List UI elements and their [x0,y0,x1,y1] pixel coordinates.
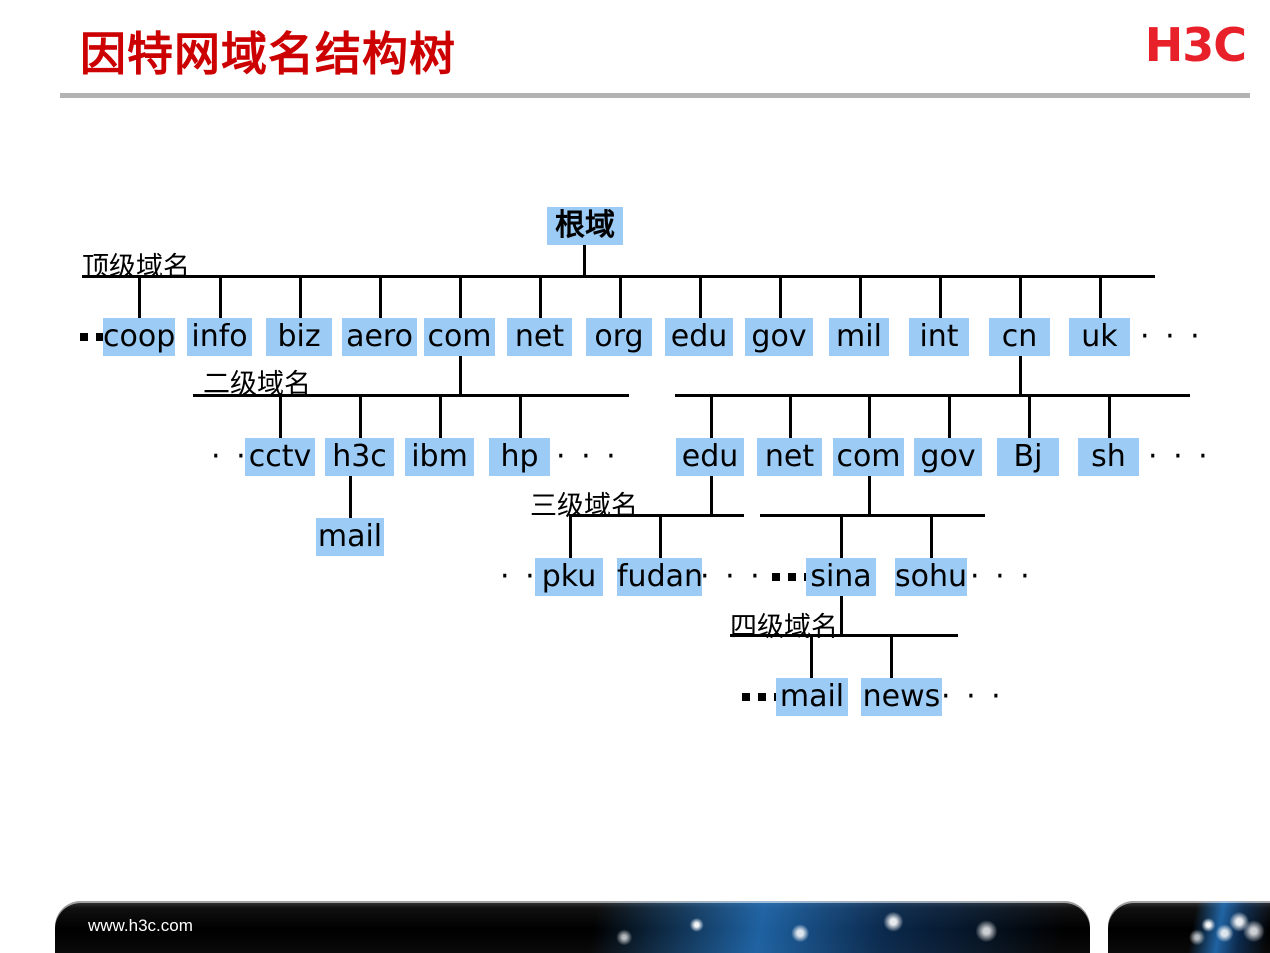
connector-4l-mail [810,634,813,678]
connector-2l-ibm [439,394,442,438]
tier-label-top-level: 顶级域名 [82,245,190,284]
h3c-logo: H3C [1145,18,1246,72]
node-3l-fudan: fudan [617,558,702,596]
ellipsis-2l-right: · · · [1148,438,1211,476]
connector-tld-int [939,275,942,318]
connector-2l-cn-com [868,394,871,438]
node-tld-gov: gov [745,318,813,356]
bus-fourth-level [730,634,958,637]
node-2l-cctv: cctv [245,438,315,476]
connector-tld-coop [138,275,141,318]
node-3l-h3c-mail: mail [316,518,384,556]
node-4l-mail: mail [776,678,848,716]
tier-label-fourth-level: 四级域名 [730,605,838,644]
footer-url: www.h3c.com [88,916,193,936]
node-2l-cn-net: net [757,438,822,476]
ellipsis-tld-right: · · · [1140,318,1203,356]
node-3l-sohu: sohu [895,558,967,596]
connector-cn-com-stem [868,476,871,514]
node-2l-h3c: h3c [325,438,394,476]
footer-bar-side [1108,901,1270,953]
node-root: 根域 [547,207,623,245]
node-tld-net: net [507,318,572,356]
ellipsis-3l-edu-right: · · · [700,558,763,596]
connector-tld-aero [379,275,382,318]
slide-footer: www.h3c.com [0,891,1270,953]
node-3l-pku: pku [535,558,603,596]
connector-4l-news [890,634,893,678]
node-tld-int: int [909,318,969,356]
node-tld-cn: cn [989,318,1050,356]
node-tld-uk: uk [1069,318,1130,356]
connector-root-stem [583,245,586,277]
connector-com-stem [459,356,462,394]
connector-tld-gov [779,275,782,318]
bus-second-level-cn [675,394,1190,397]
tier-label-third-level: 三级域名 [530,484,638,523]
node-tld-org: org [586,318,652,356]
node-2l-cn-bj: Bj [997,438,1059,476]
ellipsis-3l-com-right: · · · [970,558,1033,596]
connector-tld-cn [1019,275,1022,318]
connector-3l-sina [840,514,843,558]
connector-2l-cn-gov [948,394,951,438]
connector-3l-sohu [930,514,933,558]
footer-bar-main [55,901,1090,953]
bus-third-level-edu-left [569,514,593,517]
connector-2l-h3c [359,394,362,438]
node-tld-edu: edu [665,318,733,356]
node-2l-cn-gov: gov [914,438,982,476]
connector-tld-uk [1099,275,1102,318]
node-2l-cn-com: com [833,438,904,476]
connector-3l-fudan [659,514,662,558]
connector-tld-com [459,275,462,318]
node-tld-com: com [424,318,495,356]
connector-tld-info [219,275,222,318]
node-2l-cn-sh: sh [1078,438,1139,476]
node-tld-aero: aero [342,318,417,356]
connector-tld-net [539,275,542,318]
connector-tld-biz [299,275,302,318]
node-2l-hp: hp [489,438,550,476]
connector-2l-cn-sh [1108,394,1111,438]
connector-3l-pku [569,514,572,558]
ellipsis-2l-mid: · · · [556,438,619,476]
connector-2l-hp [519,394,522,438]
node-2l-cn-edu: edu [676,438,744,476]
node-tld-coop: coop [103,318,175,356]
connector-2l-cn-bj [1028,394,1031,438]
connector-2l-cn-net [789,394,792,438]
slide-canvas: 因特网域名结构树 H3C 根域 顶级域名 coop info biz aero … [0,0,1270,953]
node-2l-ibm: ibm [405,438,474,476]
connector-tld-org [619,275,622,318]
header-divider [60,93,1250,98]
connector-h3c-mail [349,476,352,518]
node-tld-info: info [187,318,252,356]
connector-cn-stem [1019,356,1022,394]
connector-tld-mil [859,275,862,318]
connector-2l-cn-edu [710,394,713,438]
bus-second-level-com [193,394,629,397]
connector-sina-stem [840,596,843,634]
node-tld-mil: mil [829,318,889,356]
bus-third-level-com [760,514,985,517]
connector-2l-cctv [279,394,282,438]
bus-third-level-edu [592,514,744,517]
node-4l-news: news [861,678,942,716]
connector-cn-edu-stem [710,476,713,514]
node-3l-sina: sina [806,558,876,596]
connector-tld-edu [699,275,702,318]
node-tld-biz: biz [266,318,332,356]
ellipsis-4l-right: · · · [941,678,1004,716]
page-title: 因特网域名结构树 [80,18,456,84]
